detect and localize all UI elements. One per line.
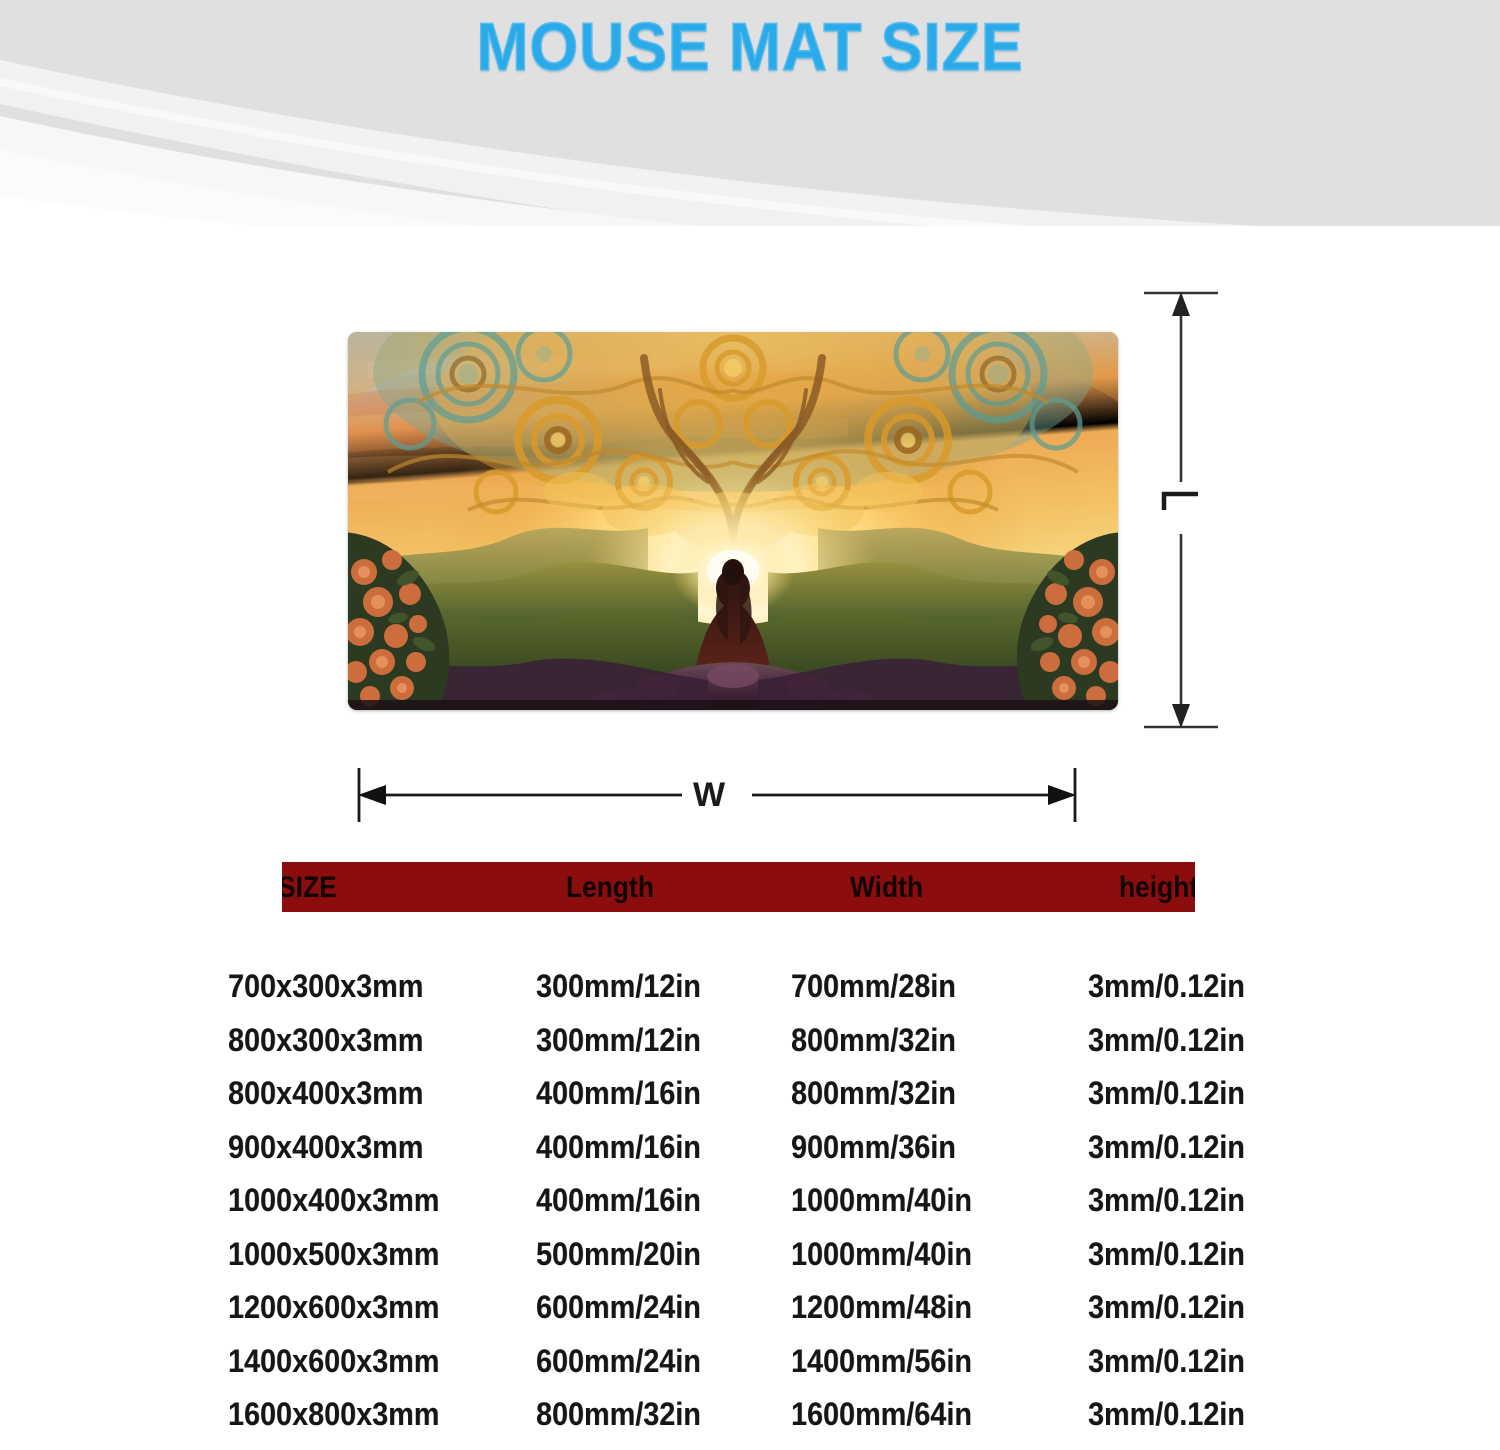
cell-width: 700mm/28in xyxy=(791,968,956,1005)
cell-length: 600mm/24in xyxy=(536,1343,701,1380)
table-row: 800x400x3mm 400mm/16in 800mm/32in 3mm/0.… xyxy=(0,1075,1500,1129)
width-dimension-label: W xyxy=(693,776,725,815)
table-row: 1000x400x3mm 400mm/16in 1000mm/40in 3mm/… xyxy=(0,1182,1500,1236)
header-banner: MOUSE MAT SIZE xyxy=(0,0,1500,232)
cell-height: 3mm/0.12in xyxy=(1088,1182,1245,1219)
cell-width: 1600mm/64in xyxy=(791,1396,972,1433)
cell-length: 400mm/16in xyxy=(536,1075,701,1112)
cell-size: 700x300x3mm xyxy=(228,968,423,1005)
cell-height: 3mm/0.12in xyxy=(1088,1129,1245,1166)
cell-width: 1200mm/48in xyxy=(791,1289,972,1326)
height-dimension-arrow xyxy=(1138,286,1224,736)
cell-width: 1000mm/40in xyxy=(791,1236,972,1273)
cell-size: 800x400x3mm xyxy=(228,1075,423,1112)
table-row: 1000x500x3mm 500mm/20in 1000mm/40in 3mm/… xyxy=(0,1236,1500,1290)
cell-length: 300mm/12in xyxy=(536,968,701,1005)
cell-size: 800x300x3mm xyxy=(228,1022,423,1059)
length-label-bracket xyxy=(1164,494,1198,510)
cell-size: 1000x500x3mm xyxy=(228,1236,439,1273)
cell-width: 1000mm/40in xyxy=(791,1182,972,1219)
cell-length: 800mm/32in xyxy=(536,1396,701,1433)
cell-length: 400mm/16in xyxy=(536,1129,701,1166)
mousepad-artwork xyxy=(348,332,1118,710)
page-title: MOUSE MAT SIZE xyxy=(60,8,1440,86)
cell-width: 800mm/32in xyxy=(791,1022,956,1059)
cell-height: 3mm/0.12in xyxy=(1088,1022,1245,1059)
cell-height: 3mm/0.12in xyxy=(1088,1343,1245,1380)
cell-width: 800mm/32in xyxy=(791,1075,956,1112)
artwork-svg xyxy=(348,332,1118,710)
cell-width: 1400mm/56in xyxy=(791,1343,972,1380)
cell-size: 1600x800x3mm xyxy=(228,1396,439,1433)
cell-height: 3mm/0.12in xyxy=(1088,1396,1245,1433)
spec-table-body: 700x300x3mm 300mm/12in 700mm/28in 3mm/0.… xyxy=(0,968,1500,1450)
cell-length: 400mm/16in xyxy=(536,1182,701,1219)
column-header-width: Width xyxy=(850,871,923,905)
cell-height: 3mm/0.12in xyxy=(1088,1289,1245,1326)
cell-size: 900x400x3mm xyxy=(228,1129,423,1166)
table-row: 900x400x3mm 400mm/16in 900mm/36in 3mm/0.… xyxy=(0,1129,1500,1183)
mousepad-product-image xyxy=(348,332,1118,710)
table-row: 1400x600x3mm 600mm/24in 1400mm/56in 3mm/… xyxy=(0,1343,1500,1397)
column-header-length: Length xyxy=(566,871,654,905)
cell-height: 3mm/0.12in xyxy=(1088,968,1245,1005)
table-row: 700x300x3mm 300mm/12in 700mm/28in 3mm/0.… xyxy=(0,968,1500,1022)
column-header-size: SIZE xyxy=(282,871,337,905)
cell-length: 600mm/24in xyxy=(536,1289,701,1326)
table-row: 1200x600x3mm 600mm/24in 1200mm/48in 3mm/… xyxy=(0,1289,1500,1343)
column-header-height: height xyxy=(1119,871,1195,905)
spec-table-header: SIZE Length Width height xyxy=(282,862,1195,912)
cell-length: 300mm/12in xyxy=(536,1022,701,1059)
cell-height: 3mm/0.12in xyxy=(1088,1075,1245,1112)
table-row: 800x300x3mm 300mm/12in 800mm/32in 3mm/0.… xyxy=(0,1022,1500,1076)
cell-size: 1200x600x3mm xyxy=(228,1289,439,1326)
cell-width: 900mm/36in xyxy=(791,1129,956,1166)
cell-height: 3mm/0.12in xyxy=(1088,1236,1245,1273)
table-row: 1600x800x3mm 800mm/32in 1600mm/64in 3mm/… xyxy=(0,1396,1500,1450)
cell-size: 1400x600x3mm xyxy=(228,1343,439,1380)
cell-size: 1000x400x3mm xyxy=(228,1182,439,1219)
cell-length: 500mm/20in xyxy=(536,1236,701,1273)
